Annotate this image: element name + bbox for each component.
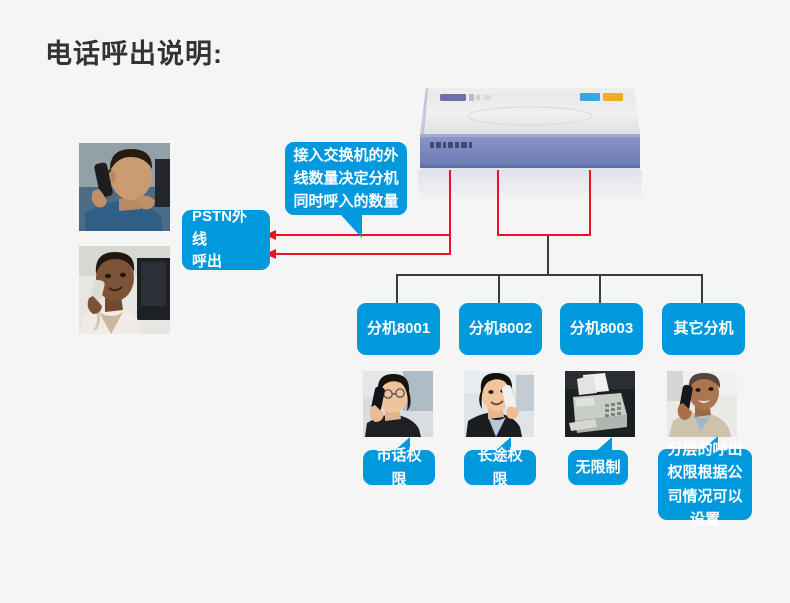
extension-photo-fax-machine — [565, 371, 635, 437]
permission-callout-1[interactable]: 市话权限 — [363, 450, 435, 485]
red-line-bracket-right — [589, 170, 591, 236]
black-line-branch-2 — [498, 274, 500, 304]
extension-photo-woman-desk-phone — [464, 371, 534, 437]
permission-label-2: 长途权限 — [471, 444, 529, 491]
permission-callout-2[interactable]: 长途权限 — [464, 450, 536, 485]
permission-label-1: 市话权限 — [370, 444, 428, 491]
black-line-branch-4 — [701, 274, 703, 304]
callout-outside-line-capacity-text: 接入交换机的外线数量决定分机同时呼入的数量 — [292, 144, 400, 214]
pstn-label-line2: 呼出 — [192, 251, 222, 274]
red-line-vertical-drop — [449, 234, 451, 254]
red-line-vertical-left — [449, 170, 451, 236]
diagram-canvas: 电话呼出说明: — [0, 0, 790, 603]
pbx-reflection — [418, 170, 642, 204]
black-line-branch-1 — [396, 274, 398, 304]
extension-box-2[interactable]: 分机8002 — [459, 303, 542, 355]
extension-box-3[interactable]: 分机8003 — [560, 303, 643, 355]
red-line-horizontal-upper — [275, 234, 451, 236]
extension-label-3: 分机8003 — [570, 318, 633, 341]
extension-label-2: 分机8002 — [469, 318, 532, 341]
caller-photo-woman-phone — [79, 246, 170, 334]
black-line-bus — [397, 274, 703, 276]
red-line-horizontal-lower — [275, 253, 451, 255]
pstn-label-line1: PSTN外线 — [192, 206, 260, 251]
page-title: 电话呼出说明: — [45, 32, 223, 71]
red-line-bracket-left — [497, 170, 499, 236]
callout-tail-icon — [340, 214, 362, 238]
extension-photo-woman-mobile — [363, 371, 433, 437]
extension-box-4[interactable]: 其它分机 — [662, 303, 745, 355]
caller-photo-man-headset — [79, 143, 170, 231]
permission-callout-4[interactable]: 分层的呼出权限根据公司情况可以设置 — [658, 449, 752, 520]
red-line-bracket-bottom — [497, 234, 591, 236]
black-line-trunk — [547, 236, 549, 275]
callout-outside-line-capacity: 接入交换机的外线数量决定分机同时呼入的数量 — [285, 142, 407, 215]
pstn-outbound-box[interactable]: PSTN外线 呼出 — [182, 210, 270, 270]
extension-box-1[interactable]: 分机8001 — [357, 303, 440, 355]
permission-callout-3[interactable]: 无限制 — [568, 450, 628, 485]
extension-label-1: 分机8001 — [367, 318, 430, 341]
extension-photo-man-phone — [667, 371, 737, 437]
black-line-branch-3 — [599, 274, 601, 304]
permission-label-3: 无限制 — [575, 456, 620, 479]
permission-label-4: 分层的呼出权限根据公司情况可以设置 — [665, 438, 745, 531]
extension-label-4: 其它分机 — [673, 318, 733, 341]
pbx-switch-device — [418, 82, 642, 172]
